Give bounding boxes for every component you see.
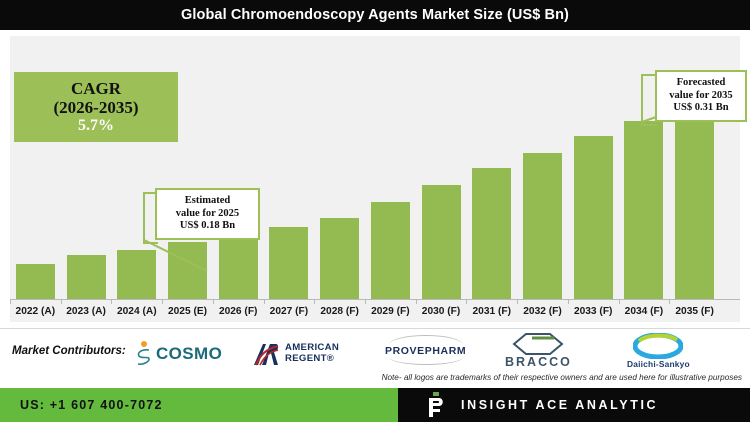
provepharm-wordmark: PROVEPHARM <box>385 345 466 357</box>
daiichi-ring-icon <box>633 333 683 359</box>
bracco-hexagon-icon <box>512 333 564 355</box>
american-regent-wordmark: AMERICAN REGENT® <box>285 343 339 364</box>
american-regent-line2: REGENT® <box>285 354 339 365</box>
x-tick <box>466 299 467 304</box>
x-tick <box>213 299 214 304</box>
x-tick <box>517 299 518 304</box>
x-tick <box>264 299 265 304</box>
footer-contact-block: US: +1 607 400-7072 <box>0 388 398 422</box>
phone-number[interactable]: US: +1 607 400-7072 <box>20 398 163 412</box>
contributors-strip: Market Contributors: COSMO <box>0 328 750 389</box>
cosmo-wordmark: COSMO <box>156 344 222 364</box>
daiichi-wordmark: Daiichi-Sankyo <box>627 359 690 369</box>
logo-provepharm: PROVEPHARM <box>385 335 466 369</box>
cosmo-mark-icon <box>136 340 152 368</box>
brand-block: INSIGHT ACE ANALYTIC <box>425 388 658 422</box>
logo-cosmo: COSMO <box>136 337 222 371</box>
x-tick <box>669 299 670 304</box>
provepharm-underarc-icon <box>389 357 463 365</box>
callout-2035-line3: US$ 0.31 Bn <box>673 102 728 115</box>
x-tick <box>365 299 366 304</box>
insightace-logo-icon <box>425 392 447 418</box>
chart-panel: 2022 (A)2023 (A)2024 (A)2025 (E)2026 (F)… <box>0 30 750 328</box>
bracco-wordmark: BRACCO <box>505 355 572 369</box>
callout-2035-line2: value for 2035 <box>669 90 732 103</box>
x-tick <box>619 299 620 304</box>
logo-daiichi-sankyo: Daiichi-Sankyo <box>627 333 690 367</box>
market-size-infographic: Global Chromoendoscopy Agents Market Siz… <box>0 0 750 422</box>
header-bar: Global Chromoendoscopy Agents Market Siz… <box>0 0 750 30</box>
x-tick <box>111 299 112 304</box>
x-tick <box>10 299 11 304</box>
x-tick <box>162 299 163 304</box>
x-tick <box>314 299 315 304</box>
contributors-label: Market Contributors: <box>12 345 126 357</box>
cosmo-swirl-icon <box>136 348 152 367</box>
page-title: Global Chromoendoscopy Agents Market Siz… <box>181 7 569 23</box>
trademark-note: Note- all logos are trademarks of their … <box>382 373 742 382</box>
callout-2035-leader <box>0 30 750 328</box>
x-tick <box>568 299 569 304</box>
bracco-hex-icon <box>512 333 564 355</box>
provepharm-arc-icon <box>389 335 463 345</box>
cosmo-dot-icon <box>141 341 147 347</box>
x-tick <box>61 299 62 304</box>
callout-forecasted-2035: Forecasted value for 2035 US$ 0.31 Bn <box>655 70 747 122</box>
american-regent-mark-icon <box>252 341 280 367</box>
footer-bar: US: +1 607 400-7072 INSIGHT ACE ANALYTIC <box>0 388 750 422</box>
letter-a-logo-icon <box>425 392 447 418</box>
x-tick <box>416 299 417 304</box>
logo-american-regent: AMERICAN REGENT® <box>252 337 339 371</box>
daiichi-ellipse-icon <box>633 333 683 359</box>
logo-bracco: BRACCO <box>505 333 572 367</box>
ar-monogram-icon <box>252 341 280 367</box>
callout-2035-line1: Forecasted <box>677 77 726 90</box>
brand-name: INSIGHT ACE ANALYTIC <box>461 398 658 412</box>
